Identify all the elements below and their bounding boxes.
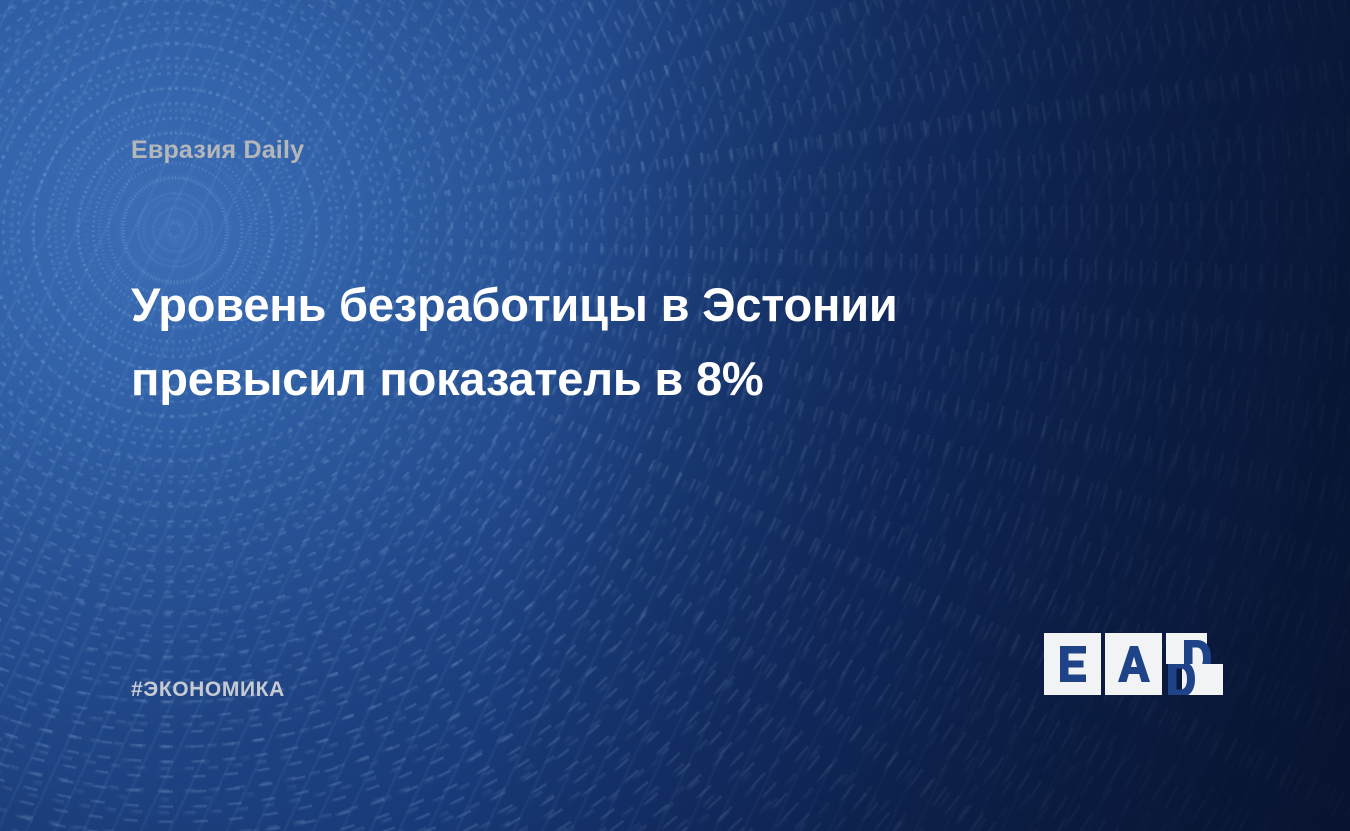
logo-tile-a [1105,633,1162,695]
card-content: Евразия Daily Уровень безработицы в Эсто… [0,0,1350,831]
headline-line-1: Уровень безработицы в Эстонии [131,268,1081,342]
category-tag: #ЭКОНОМИКА [131,678,285,702]
logo-tile-d [1166,633,1223,695]
logo-tile-d-top-half [1166,633,1223,664]
ead-logo[interactable] [1044,633,1223,695]
logo-tile-d-bottom-half [1166,664,1223,695]
headline-line-2: превысил показатель в 8% [131,342,1081,416]
logo-tile-e [1044,633,1101,695]
news-card: Евразия Daily Уровень безработицы в Эсто… [0,0,1350,831]
headline: Уровень безработицы в Эстонии превысил п… [131,268,1081,416]
brand-name: Евразия Daily [131,136,304,165]
